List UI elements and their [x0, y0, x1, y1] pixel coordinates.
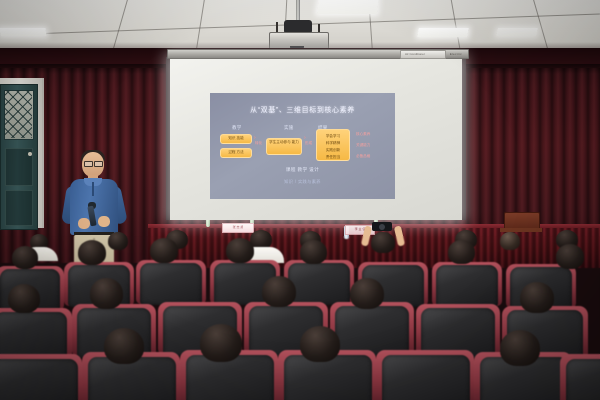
slide-note-2: 关键能力	[356, 143, 370, 148]
audience-head	[226, 238, 254, 263]
lecture-hall-photo: Air Conditioner Electric 从“双基”、三维目标到核心素养…	[0, 0, 600, 400]
auditorium-seat[interactable]	[140, 263, 202, 305]
presenter-left-hand	[78, 218, 90, 229]
audience-head	[8, 284, 40, 313]
audience-head	[12, 246, 38, 269]
ac-unit-label: Air Conditioner	[405, 52, 425, 56]
auditorium-seat[interactable]	[284, 355, 372, 400]
audience-head	[300, 240, 327, 264]
slide-column-label-1: 教学	[232, 125, 242, 131]
door-lattice-grille-icon	[4, 90, 32, 138]
audience-head	[556, 244, 584, 269]
audience-head	[350, 278, 384, 309]
auditorium-seat[interactable]	[186, 355, 274, 400]
auditorium-seat[interactable]	[382, 355, 470, 400]
slide-column-label-2: 实施	[284, 125, 294, 131]
presenter-right-hand	[98, 216, 110, 227]
camera-lens-icon	[379, 224, 385, 230]
audience-head	[520, 282, 554, 313]
ceiling-light-panel	[496, 28, 538, 36]
door-knob[interactable]	[28, 152, 32, 156]
slide-box-competencies: 学会学习 科学精神 实践创新 责任担当	[316, 129, 350, 161]
slide-competency-3: 实践创新	[317, 147, 349, 154]
auditorium-seat[interactable]	[0, 359, 78, 400]
audience-head	[90, 278, 123, 309]
arrow-right-icon: ›	[254, 135, 256, 141]
seated-audience	[0, 236, 600, 400]
slide-subfooter: 知识 / 实践与素养	[210, 179, 395, 185]
auditorium-seat[interactable]	[288, 263, 350, 305]
auditorium-seat[interactable]	[436, 265, 498, 307]
audience-head	[104, 328, 144, 364]
photographer-head	[371, 232, 395, 253]
audience-head	[108, 232, 128, 250]
audience-head	[300, 326, 340, 362]
auditorium-seat[interactable]	[566, 359, 600, 400]
ceiling-light-panel	[0, 28, 46, 36]
slide-title: 从“双基”、三维目标到核心素养	[210, 105, 395, 115]
screen-brand-label: Electric	[450, 52, 462, 56]
audience-head	[200, 324, 242, 362]
slide-competency-2: 科学精神	[317, 140, 349, 147]
slide-competency-4: 责任担当	[317, 154, 349, 161]
auditorium-seat[interactable]	[335, 306, 409, 356]
slide-connector-1: 转化	[255, 141, 262, 146]
ceiling-light-panel	[417, 28, 468, 37]
projected-slide: 从“双基”、三维目标到核心素养 教学 实施 结果 知识 技能 过程 方法 转化 …	[210, 93, 395, 199]
door-panel	[5, 190, 33, 226]
audience-head	[500, 232, 520, 250]
slide-footer: 课程 教学 设计	[210, 167, 395, 173]
projector-mount-pole	[296, 0, 300, 22]
slide-note-1: 核心素养	[356, 132, 370, 137]
arrow-right-icon: ›	[304, 135, 306, 141]
slide-connector-2: 形成	[305, 141, 312, 146]
slide-competency-1: 学会学习	[317, 133, 349, 140]
table-name-card: 张 志 勇	[222, 223, 254, 233]
glasses-icon	[94, 161, 103, 167]
slide-box-knowledge: 知识 技能	[220, 134, 252, 144]
presenter-shirt-placket	[92, 182, 94, 196]
glasses-icon	[84, 161, 93, 167]
slide-box-process: 过程 方法	[220, 148, 252, 158]
audience-head	[262, 276, 296, 307]
audience-head	[448, 240, 475, 264]
audience-head	[500, 330, 540, 366]
audience-head	[78, 240, 106, 265]
auditorium-seat[interactable]	[88, 357, 176, 400]
wall-air-conditioner: Air Conditioner	[400, 50, 446, 59]
slide-box-center: 学生主动参与 能力	[266, 138, 302, 155]
ceiling-light-panel	[317, 0, 379, 14]
slide-note-3: 必备品格	[356, 154, 370, 159]
audience-head	[150, 238, 178, 263]
